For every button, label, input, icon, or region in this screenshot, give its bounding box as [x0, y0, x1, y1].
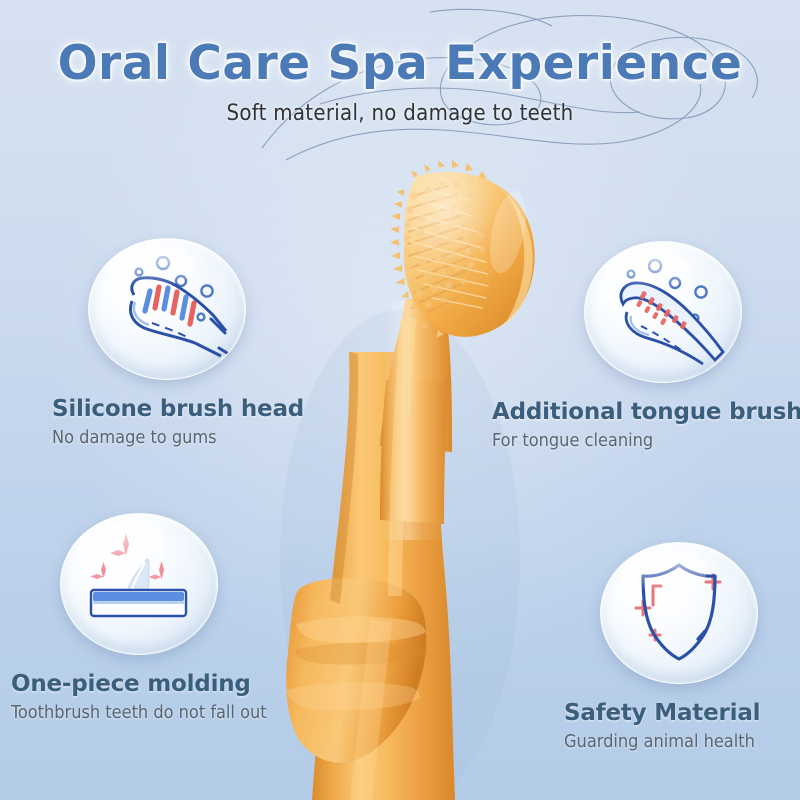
feature-subtext: Guarding animal health	[564, 731, 760, 752]
toothbrush-bristles-icon	[88, 238, 246, 380]
feature-heading: Additional tongue brush	[492, 399, 800, 425]
feature-heading: One-piece molding	[11, 671, 267, 697]
feature-heading: Safety Material	[564, 700, 760, 726]
product-infographic: Oral Care Spa Experience Soft material, …	[0, 0, 800, 800]
feature-subtext: No damage to gums	[52, 427, 304, 448]
feature-silicone-brush-head: Silicone brush head No damage to gums	[88, 238, 304, 448]
feature-one-piece-molding: One-piece molding Toothbrush teeth do no…	[60, 513, 267, 723]
feature-subtext: For tongue cleaning	[492, 430, 800, 451]
feature-heading: Silicone brush head	[52, 396, 304, 422]
page-title: Oral Care Spa Experience	[0, 0, 800, 91]
page-subtitle: Soft material, no damage to teeth	[0, 101, 800, 126]
header: Oral Care Spa Experience Soft material, …	[0, 0, 800, 126]
feature-subtext: Toothbrush teeth do not fall out	[11, 702, 267, 723]
shield-icon	[600, 542, 758, 684]
molding-drop-icon	[60, 513, 218, 655]
feature-additional-tongue-brush: Additional tongue brush For tongue clean…	[584, 241, 800, 451]
tongue-brush-icon	[584, 241, 742, 383]
feature-safety-material: Safety Material Guarding animal health	[600, 542, 760, 752]
